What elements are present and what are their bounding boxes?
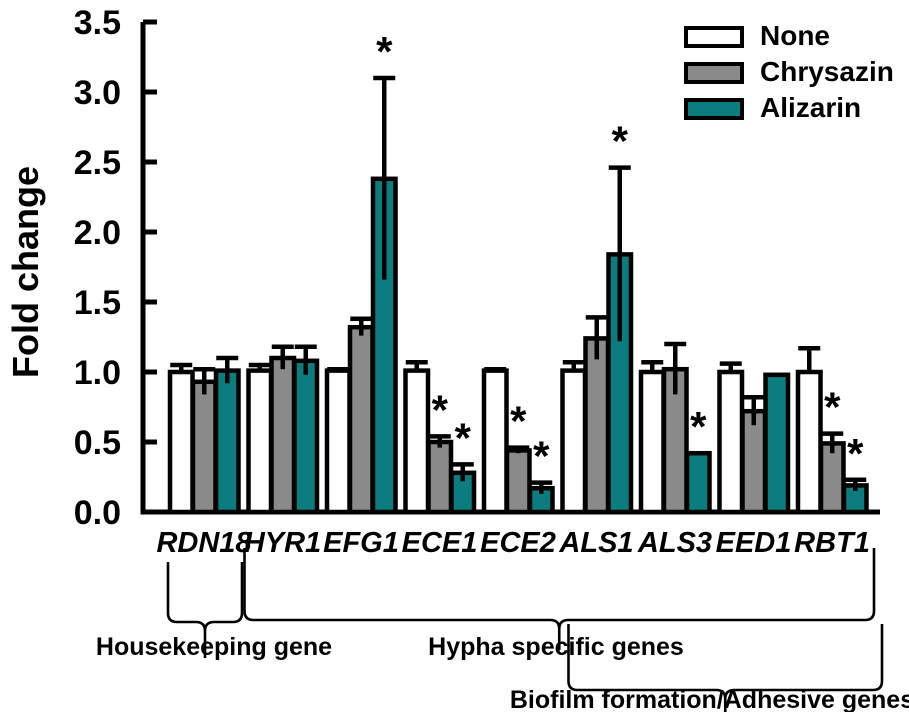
x-axis-label-eed1: EED1 bbox=[716, 527, 792, 559]
annotation-label-hypha: Hypha specific genes bbox=[428, 633, 684, 661]
bar-ece2-none bbox=[484, 371, 507, 512]
significance-asterisk: * bbox=[690, 403, 707, 450]
chart-canvas: 0.00.51.01.52.02.53.03.5Fold change*****… bbox=[0, 0, 909, 712]
y-axis-tick-label: 3.0 bbox=[74, 74, 121, 112]
bar-hyr1-chrysazin bbox=[272, 358, 295, 512]
x-axis-label-als3: ALS3 bbox=[637, 527, 712, 559]
x-axis-label-ece2: ECE2 bbox=[480, 527, 556, 559]
bar-als3-alizarin bbox=[687, 453, 710, 512]
significance-asterisk: * bbox=[824, 384, 841, 431]
bar-eed1-alizarin bbox=[766, 375, 789, 512]
bar-hyr1-alizarin bbox=[295, 361, 318, 512]
legend-swatch-alizarin bbox=[686, 100, 742, 118]
significance-asterisk: * bbox=[612, 118, 629, 165]
bar-hyr1-none bbox=[249, 371, 272, 512]
y-axis-tick-label: 2.5 bbox=[74, 144, 121, 182]
chart-legend: NoneChrysazinAlizarin bbox=[686, 20, 894, 123]
bar-als1-none bbox=[563, 371, 586, 512]
group-annotations: Housekeeping geneHypha specific genesBio… bbox=[96, 548, 909, 712]
bar-rdn18-alizarin bbox=[216, 371, 239, 512]
bar-ece2-chrysazin bbox=[507, 450, 530, 512]
significance-asterisk: * bbox=[847, 430, 864, 477]
bar-efg1-none bbox=[327, 371, 350, 512]
x-axis-label-rdn18: RDN18 bbox=[156, 527, 252, 559]
bar-rdn18-chrysazin bbox=[193, 382, 216, 512]
bar-eed1-none bbox=[720, 372, 743, 512]
bar-als1-chrysazin bbox=[586, 338, 609, 512]
legend-swatch-chrysazin bbox=[686, 64, 742, 82]
y-axis-tick-label: 1.5 bbox=[74, 284, 121, 322]
annotation-label-housekeeping: Housekeeping gene bbox=[96, 633, 332, 661]
bar-eed1-chrysazin bbox=[743, 411, 766, 512]
legend-swatch-none bbox=[686, 28, 742, 46]
bar-rbt1-none bbox=[798, 372, 821, 512]
legend-label-none: None bbox=[760, 20, 830, 51]
x-axis-label-ece1: ECE1 bbox=[402, 527, 478, 559]
significance-asterisk: * bbox=[510, 398, 527, 445]
x-axis-labels: RDN18HYR1EFG1ECE1ECE2ALS1ALS3EED1RBT1 bbox=[156, 527, 869, 559]
y-axis-tick-label: 0.0 bbox=[74, 494, 121, 532]
y-axis-title: Fold change bbox=[5, 166, 46, 378]
legend-label-chrysazin: Chrysazin bbox=[760, 56, 894, 87]
y-axis-tick-label: 3.5 bbox=[74, 4, 121, 42]
significance-asterisk: * bbox=[455, 414, 472, 461]
bar-ece1-chrysazin bbox=[429, 442, 452, 512]
significance-asterisk: * bbox=[533, 433, 550, 480]
y-axis-tick-label: 0.5 bbox=[74, 424, 121, 462]
x-axis-label-als1: ALS1 bbox=[558, 527, 633, 559]
bar-rbt1-chrysazin bbox=[821, 443, 844, 512]
bar-rdn18-none bbox=[170, 372, 193, 512]
bar-efg1-chrysazin bbox=[350, 327, 373, 512]
x-axis-label-hyr1: HYR1 bbox=[244, 527, 321, 559]
legend-label-alizarin: Alizarin bbox=[760, 92, 861, 123]
annotation-label-biofilm: Biofilm formation/Adhesive genes bbox=[510, 686, 909, 712]
significance-asterisk: * bbox=[432, 386, 449, 433]
significance-asterisk: * bbox=[376, 28, 393, 75]
y-axis-tick-label: 2.0 bbox=[74, 214, 121, 252]
bar-ece1-none bbox=[406, 371, 429, 512]
x-axis-label-efg1: EFG1 bbox=[323, 527, 399, 559]
y-axis-tick-label: 1.0 bbox=[74, 354, 121, 392]
bar-als3-none bbox=[641, 372, 664, 512]
x-axis-label-rbt1: RBT1 bbox=[794, 527, 870, 559]
bar-chart-figure: 0.00.51.01.52.02.53.03.5Fold change*****… bbox=[0, 0, 909, 712]
